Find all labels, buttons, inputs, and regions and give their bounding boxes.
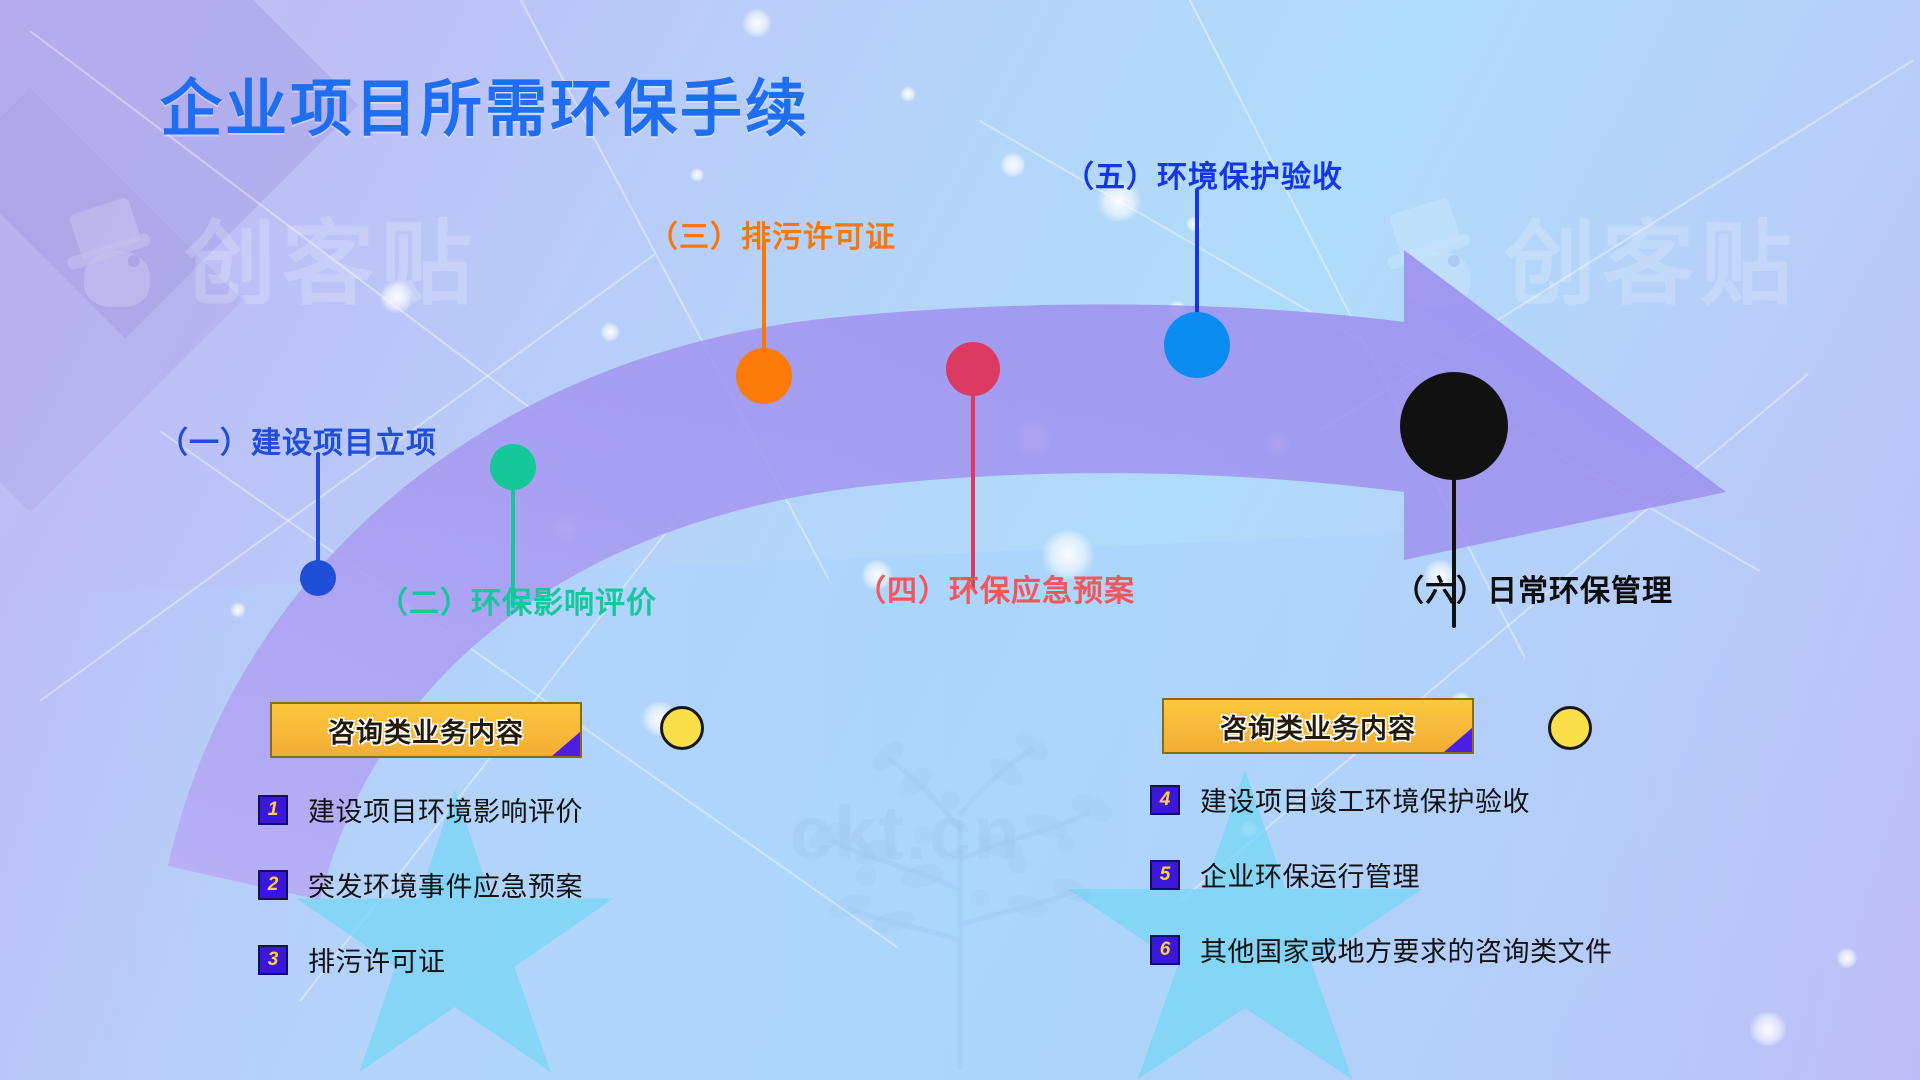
list-item-label: 排污许可证 bbox=[308, 940, 446, 979]
banner-fold-corner bbox=[552, 732, 580, 756]
step-label-4: （四）环保应急预案 bbox=[856, 566, 1135, 610]
left-list: 1 建设项目环境影响评价 2 突发环境事件应急预案 3 排污许可证 bbox=[258, 790, 583, 1015]
right-banner-label: 咨询类业务内容 bbox=[1220, 707, 1416, 746]
list-item-number: 1 bbox=[258, 795, 288, 825]
list-item-number: 5 bbox=[1150, 860, 1180, 890]
step-label-1: （一）建设项目立项 bbox=[158, 418, 437, 462]
banner-fold-corner bbox=[1444, 728, 1472, 752]
list-item[interactable]: 6 其他国家或地方要求的咨询类文件 bbox=[1150, 930, 1613, 969]
list-item[interactable]: 3 排污许可证 bbox=[258, 940, 583, 979]
step-label-6: （六）日常环保管理 bbox=[1394, 566, 1673, 610]
right-list: 4 建设项目竣工环境保护验收 5 企业环保运行管理 6 其他国家或地方要求的咨询… bbox=[1150, 780, 1613, 1005]
pin-stem bbox=[762, 240, 766, 350]
pin-stem bbox=[316, 452, 320, 574]
page-title: 企业项目所需环保手续 bbox=[160, 58, 810, 148]
list-item-label: 突发环境事件应急预案 bbox=[308, 865, 583, 904]
yellow-coin-left bbox=[660, 706, 704, 750]
left-banner-label: 咨询类业务内容 bbox=[328, 711, 524, 750]
pin-stem bbox=[971, 390, 975, 590]
list-item-label: 其他国家或地方要求的咨询类文件 bbox=[1200, 930, 1613, 969]
list-item-label: 建设项目环境影响评价 bbox=[308, 790, 583, 829]
step-label-5: （五）环境保护验收 bbox=[1064, 152, 1343, 196]
list-item-number: 6 bbox=[1150, 935, 1180, 965]
right-banner: 咨询类业务内容 bbox=[1162, 698, 1474, 754]
step-label-3: （三）排污许可证 bbox=[648, 212, 896, 256]
list-item[interactable]: 1 建设项目环境影响评价 bbox=[258, 790, 583, 829]
yellow-coin-right bbox=[1548, 706, 1592, 750]
pin-dot[interactable] bbox=[1164, 312, 1230, 378]
pin-dot[interactable] bbox=[490, 444, 536, 490]
pin-dot[interactable] bbox=[1400, 372, 1508, 480]
pin-dot[interactable] bbox=[300, 560, 336, 596]
step-label-2: （二）环保影响评价 bbox=[378, 578, 657, 622]
pin-dot[interactable] bbox=[736, 348, 792, 404]
list-item-label: 建设项目竣工环境保护验收 bbox=[1200, 780, 1530, 819]
list-item[interactable]: 4 建设项目竣工环境保护验收 bbox=[1150, 780, 1613, 819]
list-item-number: 4 bbox=[1150, 785, 1180, 815]
pin-dot[interactable] bbox=[946, 342, 1000, 396]
infographic-canvas: ckt.cn 创客贴 创客贴 bbox=[0, 0, 1920, 1080]
list-item-number: 3 bbox=[258, 945, 288, 975]
list-item-number: 2 bbox=[258, 870, 288, 900]
list-item-label: 企业环保运行管理 bbox=[1200, 855, 1420, 894]
list-item[interactable]: 2 突发环境事件应急预案 bbox=[258, 865, 583, 904]
pin-stem bbox=[1195, 188, 1199, 314]
left-banner: 咨询类业务内容 bbox=[270, 702, 582, 758]
list-item[interactable]: 5 企业环保运行管理 bbox=[1150, 855, 1613, 894]
